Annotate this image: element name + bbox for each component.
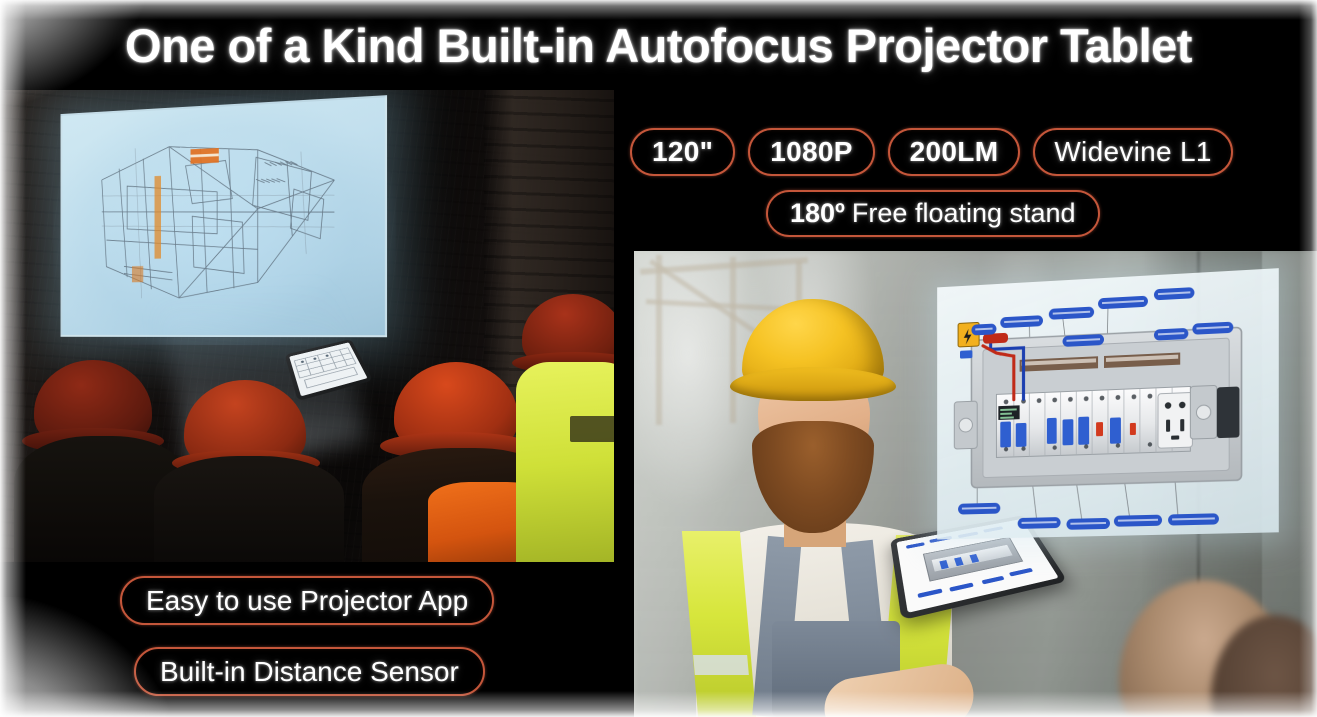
spec-badge-screen-size[interactable]: 120" (630, 128, 735, 176)
spec-badge-floating-stand[interactable]: 180ºFree floating stand (766, 190, 1100, 237)
spec-badge-row-primary: 120" 1080P 200LM Widevine L1 (630, 128, 1233, 176)
vest-print (570, 416, 614, 442)
architectural-blueprint-drawing (95, 121, 346, 311)
feature-caption-projector-app[interactable]: Easy to use Projector App (120, 576, 494, 625)
projected-electrical-panel-diagram (937, 268, 1279, 539)
safety-vest-hiviz (516, 362, 614, 562)
hard-hat-brim (730, 367, 896, 401)
spec-badge-resolution[interactable]: 1080P (748, 128, 874, 176)
projected-screen (61, 95, 388, 337)
feature-caption-panel: Easy to use Projector App Built-in Dista… (0, 562, 614, 717)
promo-banner: One of a Kind Built-in Autofocus Project… (0, 0, 1317, 717)
vest-reflective-strip (693, 655, 749, 675)
worker-body (154, 456, 344, 562)
page-title: One of a Kind Built-in Autofocus Project… (125, 18, 1192, 73)
spec-badge-row-secondary: 180ºFree floating stand (766, 190, 1100, 237)
feature-caption-distance-sensor[interactable]: Built-in Distance Sensor (134, 647, 485, 696)
banner-title-bar: One of a Kind Built-in Autofocus Project… (0, 0, 1317, 90)
spec-badge-angle-value: 180º (790, 198, 845, 229)
spec-badges-panel: 120" 1080P 200LM Widevine L1 180ºFree fl… (614, 90, 1317, 250)
spec-badge-widevine[interactable]: Widevine L1 (1033, 128, 1232, 176)
left-photo-projection-scene (0, 90, 614, 562)
right-photo-worker-scene (634, 251, 1317, 717)
spec-badge-stand-label: Free floating stand (852, 198, 1076, 229)
spec-badge-brightness[interactable]: 200LM (888, 128, 1021, 176)
tablet-diagram-thumbnail (923, 537, 1023, 582)
